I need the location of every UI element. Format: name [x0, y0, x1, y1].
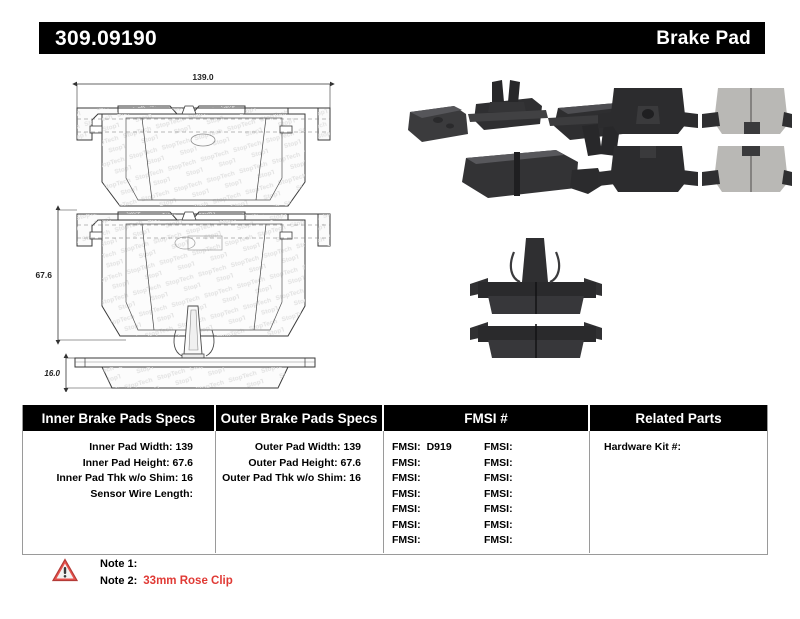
- fmsi-label: FMSI:: [484, 488, 513, 500]
- fmsi-label: FMSI:: [392, 441, 421, 453]
- column-header-fmsi: FMSI #: [384, 405, 590, 431]
- outer-spec-row: Outer Pad Thk w/o Shim: 16: [216, 471, 383, 487]
- note-2-label: Note 2:: [100, 575, 137, 587]
- note-row-1: Note 1:: [100, 556, 233, 573]
- fmsi-row: FMSI:: [484, 518, 576, 534]
- fmsi-grid: FMSI:D919FMSI:FMSI:FMSI:FMSI:FMSI:FMSI: …: [384, 440, 589, 549]
- part-number: 309.09190: [55, 28, 157, 49]
- related-part-label: Hardware Kit #:: [604, 441, 681, 453]
- fmsi-value: [513, 472, 519, 484]
- cell-inner-specs: Inner Pad Width: 139Inner Pad Height: 67…: [23, 431, 216, 553]
- specs-table-body: Inner Pad Width: 139Inner Pad Height: 67…: [23, 431, 767, 553]
- fmsi-value: [421, 457, 427, 469]
- technical-drawing-panel: StopTech StopTech 139.0: [30, 62, 390, 392]
- fmsi-row: FMSI:: [484, 440, 576, 456]
- fmsi-label: FMSI:: [484, 457, 513, 469]
- outer-spec-row: Outer Pad Width: 139: [216, 440, 383, 456]
- specs-table-header-row: Inner Brake Pads Specs Outer Brake Pads …: [23, 405, 767, 431]
- column-header-inner-specs: Inner Brake Pads Specs: [23, 405, 216, 431]
- dimension-width-label: 139.0: [192, 72, 214, 82]
- fmsi-row: FMSI:: [392, 533, 484, 549]
- fmsi-value: [513, 457, 519, 469]
- note-row-2: Note 2:33mm Rose Clip: [100, 573, 233, 590]
- fmsi-value: [513, 441, 519, 453]
- note-2-value: 33mm Rose Clip: [137, 575, 232, 587]
- inner-spec-row: Inner Pad Height: 67.6: [23, 456, 215, 472]
- fmsi-value: [513, 503, 519, 515]
- fmsi-value: D919: [421, 441, 452, 453]
- fmsi-value: [513, 519, 519, 531]
- drawing-front-view: 139.0: [77, 72, 330, 206]
- fmsi-label: FMSI:: [484, 441, 513, 453]
- product-type-label: Brake Pad: [656, 29, 751, 48]
- outer-spec-label: Outer Pad Height:: [248, 457, 337, 469]
- fmsi-row: FMSI:: [392, 518, 484, 534]
- fmsi-label: FMSI:: [392, 503, 421, 515]
- note-1-value: [137, 558, 143, 570]
- inner-spec-row: Inner Pad Width: 139: [23, 440, 215, 456]
- inner-specs-list: Inner Pad Width: 139Inner Pad Height: 67…: [23, 440, 215, 502]
- fmsi-value: [421, 488, 427, 500]
- cell-outer-specs: Outer Pad Width: 139Outer Pad Height: 67…: [216, 431, 384, 553]
- dimension-height-label: 67.6: [35, 270, 52, 280]
- warning-triangle-icon: [52, 558, 78, 582]
- inner-spec-label: Inner Pad Thk w/o Shim:: [56, 472, 178, 484]
- notes-section: Note 1: Note 2:33mm Rose Clip: [52, 556, 233, 590]
- fmsi-row: FMSI:D919: [392, 440, 484, 456]
- brake-pad-drawings: StopTech StopTech 139.0: [30, 62, 390, 392]
- outer-spec-label: Outer Pad Thk w/o Shim:: [222, 472, 346, 484]
- fmsi-label: FMSI:: [484, 534, 513, 546]
- fmsi-column-1: FMSI:D919FMSI:FMSI:FMSI:FMSI:FMSI:FMSI:: [392, 440, 484, 549]
- note-1-label: Note 1:: [100, 558, 137, 570]
- fmsi-row: FMSI:: [484, 487, 576, 503]
- fmsi-row: FMSI:: [484, 502, 576, 518]
- fmsi-label: FMSI:: [484, 519, 513, 531]
- fmsi-value: [513, 488, 519, 500]
- fmsi-column-2: FMSI:FMSI:FMSI:FMSI:FMSI:FMSI:FMSI:: [484, 440, 576, 549]
- outer-spec-row: Outer Pad Height: 67.6: [216, 456, 383, 472]
- outer-spec-label: Outer Pad Width:: [255, 441, 341, 453]
- outer-spec-value: 67.6: [338, 457, 361, 469]
- cell-fmsi: FMSI:D919FMSI:FMSI:FMSI:FMSI:FMSI:FMSI: …: [384, 431, 590, 553]
- fmsi-label: FMSI:: [392, 457, 421, 469]
- inner-spec-label: Inner Pad Width:: [89, 441, 172, 453]
- inner-spec-row: Sensor Wire Length:: [23, 487, 215, 503]
- fmsi-row: FMSI:: [392, 456, 484, 472]
- product-photos: [392, 62, 792, 392]
- outer-specs-list: Outer Pad Width: 139Outer Pad Height: 67…: [216, 440, 383, 487]
- fmsi-label: FMSI:: [392, 472, 421, 484]
- inner-spec-value: 16: [178, 472, 193, 484]
- product-photo-panel: [392, 62, 792, 392]
- photo-pad-pair-edge-view: [470, 238, 602, 358]
- fmsi-value: [421, 503, 427, 515]
- fmsi-label: FMSI:: [484, 472, 513, 484]
- title-bar: 309.09190 Brake Pad: [39, 22, 765, 54]
- fmsi-label: FMSI:: [392, 534, 421, 546]
- fmsi-row: FMSI:: [392, 487, 484, 503]
- inner-spec-value: 139: [173, 441, 193, 453]
- inner-spec-label: Inner Pad Height:: [83, 457, 170, 469]
- drawing-rear-view: 67.6: [35, 210, 330, 340]
- related-parts-list: Hardware Kit #:: [590, 440, 767, 456]
- fmsi-label: FMSI:: [392, 488, 421, 500]
- notes-text-block: Note 1: Note 2:33mm Rose Clip: [100, 556, 233, 590]
- fmsi-row: FMSI:: [484, 471, 576, 487]
- related-part-row: Hardware Kit #:: [590, 440, 767, 456]
- fmsi-label: FMSI:: [484, 503, 513, 515]
- fmsi-value: [421, 472, 427, 484]
- fmsi-value: [421, 534, 427, 546]
- dimension-thickness-label: 16.0: [44, 369, 60, 378]
- cell-related-parts: Hardware Kit #:: [590, 431, 767, 553]
- inner-spec-label: Sensor Wire Length:: [90, 488, 193, 500]
- fmsi-row: FMSI:: [392, 502, 484, 518]
- fmsi-value: [421, 519, 427, 531]
- photo-pad-set-pairs: [598, 88, 792, 192]
- specs-table: Inner Brake Pads Specs Outer Brake Pads …: [22, 405, 768, 555]
- fmsi-row: FMSI:: [484, 456, 576, 472]
- fmsi-row: FMSI:: [392, 471, 484, 487]
- fmsi-row: FMSI:: [484, 533, 576, 549]
- inner-spec-row: Inner Pad Thk w/o Shim: 16: [23, 471, 215, 487]
- column-header-related-parts: Related Parts: [590, 405, 767, 431]
- fmsi-label: FMSI:: [392, 519, 421, 531]
- fmsi-value: [513, 534, 519, 546]
- column-header-outer-specs: Outer Brake Pads Specs: [216, 405, 384, 431]
- inner-spec-value: 67.6: [170, 457, 193, 469]
- outer-spec-value: 139: [341, 441, 361, 453]
- outer-spec-value: 16: [346, 472, 361, 484]
